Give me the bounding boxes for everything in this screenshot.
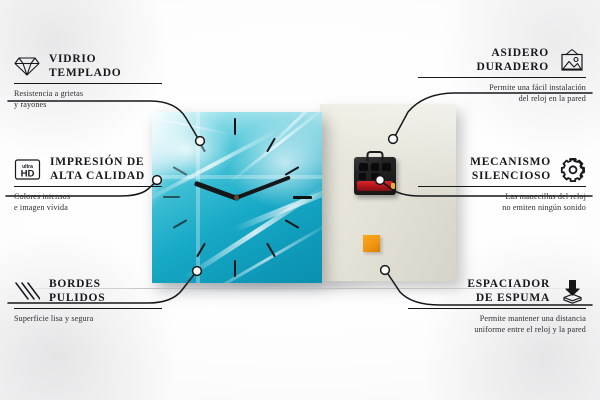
title-line-2: SILENCIOSO [470,169,551,183]
gear-icon [560,157,586,182]
feature-hd-print-head: ultra HD IMPRESIÓN DE ALTA CALIDAD [14,155,162,183]
feature-tempered-glass-desc: Resistencia a grietas y rayones [14,88,162,111]
feature-silent-mechanism-title: MECANISMO SILENCIOSO [470,155,551,183]
title-line-2: DURADERO [477,60,549,74]
desc-line-2: uniforme entre el reloj y la pared [408,324,586,335]
feature-tempered-glass-head: VIDRIO TEMPLADO [14,52,162,80]
title-line-2: ALTA CALIDAD [50,169,145,183]
foam-spacer-pad [363,235,380,252]
mechanism-slot-a [359,163,368,171]
title-line-1: BORDES [49,277,105,291]
battery [357,181,393,191]
pane-reflection-horizontal [152,175,322,179]
title-line-1: VIDRIO [49,52,121,66]
feature-durable-hanger: ASIDERO DURADERO Permite una fácil insta… [418,46,586,105]
desc-line-1: Resistencia a grietas [14,88,162,99]
desc-line-2: no emiten ningún sonido [418,202,586,213]
title-line-2: PULIDOS [49,291,105,305]
feature-tempered-glass: VIDRIO TEMPLADO Resistencia a grietas y … [14,52,162,111]
desc-line-1: Colores intensos [14,191,162,202]
mechanism-slot-b [371,163,379,171]
feature-polished-edges: BORDES PULIDOS Superficie lisa y segura [14,277,162,324]
mechanism-hanger-hook [367,151,384,161]
clock-center-hub [234,195,239,200]
title-line-1: MECANISMO [470,155,551,169]
infographic-canvas: VIDRIO TEMPLADO Resistencia a grietas y … [0,0,600,400]
feature-silent-mechanism-desc: Las manecillas del reloj no emiten ningú… [418,191,586,214]
feature-durable-hanger-head: ASIDERO DURADERO [418,46,586,74]
feature-hd-print-rule [14,186,162,187]
feature-foam-spacer-title: ESPACIADOR DE ESPUMA [467,277,550,305]
feature-foam-spacer-head: ESPACIADOR DE ESPUMA [408,277,586,305]
desc-line-2: e imagen vívida [14,202,162,213]
glass-wall-clock [152,112,322,283]
mechanism-slot-c [382,163,391,171]
clock-mechanism [354,157,396,195]
ultra-hd-icon-large-label: HD [21,168,35,179]
tick-12 [234,118,236,135]
desc-line-1: Permite una fácil instalación [418,82,586,93]
feature-silent-mechanism-rule [418,186,586,187]
title-line-1: ESPACIADOR [467,277,550,291]
ultra-hd-icon: ultra HD [14,158,41,181]
diagonal-lines-icon [14,280,40,302]
title-line-2: TEMPLADO [49,66,121,80]
feature-silent-mechanism-head: MECANISMO SILENCIOSO [418,155,586,183]
desc-line-2: y rayones [14,99,162,110]
arrow-down-stack-icon [559,279,586,304]
feature-durable-hanger-desc: Permite una fácil instalación del reloj … [418,82,586,105]
feature-durable-hanger-title: ASIDERO DURADERO [477,46,549,74]
feature-foam-spacer-desc: Permite mantener una distancia uniforme … [408,313,586,336]
title-line-1: IMPRESIÓN DE [50,155,145,169]
mechanism-slot-d [359,173,366,180]
title-line-2: DE ESPUMA [467,291,550,305]
diamond-icon [14,55,40,77]
feature-polished-edges-rule [14,308,162,309]
desc-line-2: del reloj en la pared [418,93,586,104]
feature-polished-edges-title: BORDES PULIDOS [49,277,105,305]
feature-silent-mechanism: MECANISMO SILENCIOSO Las manecillas del … [418,155,586,214]
desc-line-1: Superficie lisa y segura [14,313,162,324]
mechanism-slot-e [371,173,380,180]
feature-hd-print: ultra HD IMPRESIÓN DE ALTA CALIDAD Color… [14,155,162,214]
feature-hd-print-desc: Colores intensos e imagen vívida [14,191,162,214]
feature-foam-spacer: ESPACIADOR DE ESPUMA Permite mantener un… [408,277,586,336]
feature-polished-edges-head: BORDES PULIDOS [14,277,162,305]
framed-picture-icon [558,48,586,72]
title-line-1: ASIDERO [477,46,549,60]
tick-3 [293,196,312,199]
feature-hd-print-title: IMPRESIÓN DE ALTA CALIDAD [50,155,145,183]
desc-line-1: Las manecillas del reloj [418,191,586,202]
tick-6 [234,260,236,277]
feature-tempered-glass-title: VIDRIO TEMPLADO [49,52,121,80]
desc-line-1: Permite mantener una distancia [408,313,586,324]
feature-durable-hanger-rule [418,77,586,78]
feature-foam-spacer-rule [408,308,586,309]
feature-tempered-glass-rule [14,83,162,84]
feature-polished-edges-desc: Superficie lisa y segura [14,313,162,324]
